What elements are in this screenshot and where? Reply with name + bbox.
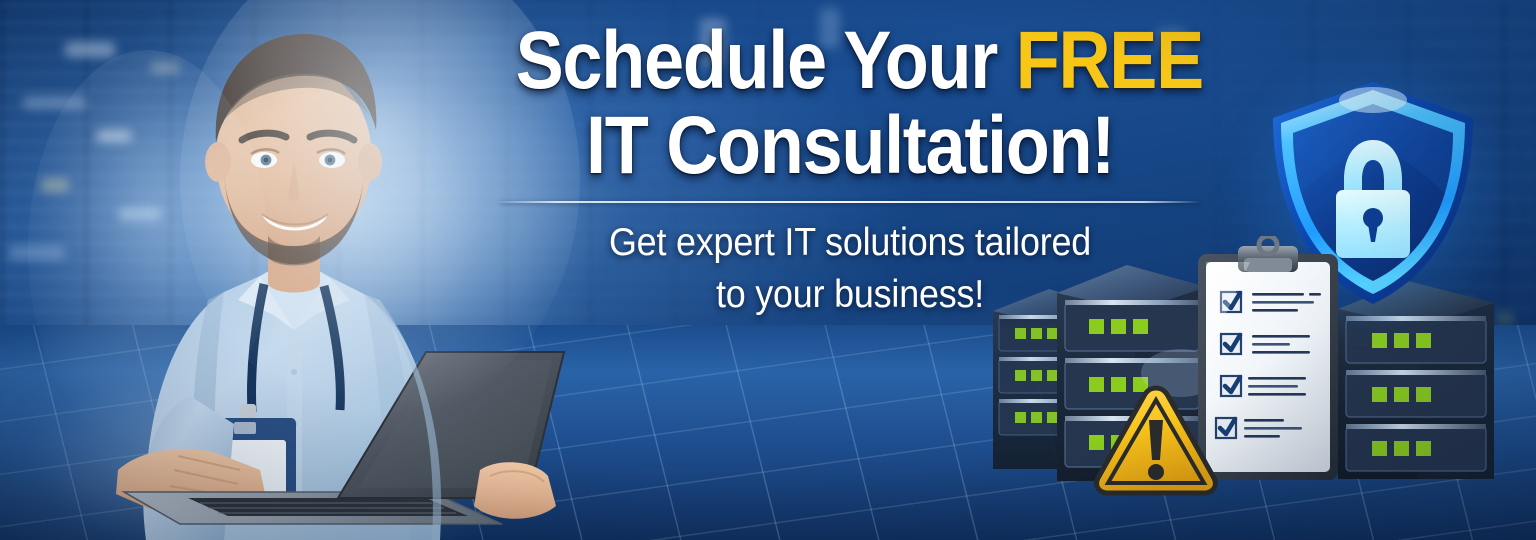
headline-line-1: Schedule Your FREE: [516, 22, 1185, 101]
headline-divider: [500, 201, 1200, 203]
server-rack-icon: [1330, 275, 1520, 495]
list-item: [1221, 376, 1306, 396]
warning-triangle-icon: [1092, 382, 1220, 498]
it-consultation-banner: Schedule Your FREE IT Consultation! Get …: [0, 0, 1536, 540]
headline-part-schedule-your: Schedule Your: [516, 15, 1016, 106]
headline-line-2: IT Consultation!: [516, 107, 1185, 186]
headline-highlight-free: FREE: [1016, 15, 1203, 106]
